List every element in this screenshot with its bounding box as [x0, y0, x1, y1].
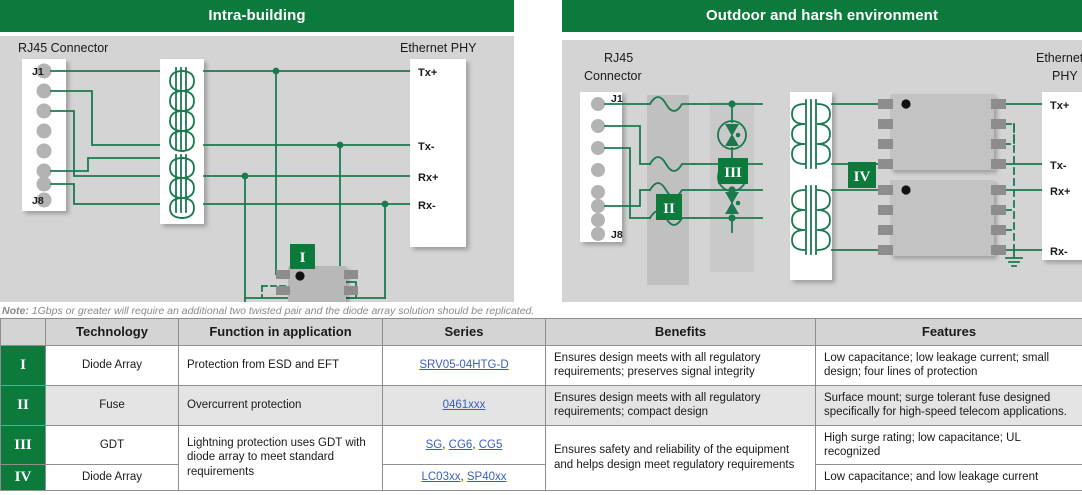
diode-array-top	[878, 94, 1006, 170]
row-technology-iv: Diode Array	[46, 465, 179, 490]
series-link-cg6[interactable]: CG6	[449, 439, 473, 451]
row-index-iv: IV	[1, 465, 46, 490]
table-row: III GDT Lightning protection uses GDT wi…	[1, 425, 1082, 465]
col-header-benefits: Benefits	[546, 319, 816, 346]
row-index-i: I	[1, 346, 46, 386]
series-link-sg[interactable]: SG	[426, 439, 443, 451]
right-phy-pin-rx-plus: Rx+	[1050, 186, 1071, 198]
right-phy-label-line2: PHY	[1052, 69, 1078, 83]
left-phy-pin-tx-minus: Tx-	[418, 141, 435, 153]
note-prefix: Note:	[2, 305, 29, 317]
left-phy-pin-rx-minus: Rx-	[418, 200, 436, 212]
technology-table-wrapper: Technology Function in application Serie…	[0, 318, 1082, 491]
col-header-index	[1, 319, 46, 346]
schematic-outdoor-harsh: RJ45 Connector J1 J8 Ethernet PHY Tx+ Tx…	[562, 40, 1082, 302]
row-technology-i: Diode Array	[46, 346, 179, 386]
badge-ii-label: II	[663, 201, 675, 217]
row-benefits-ii: Ensures design meets with all regulatory…	[546, 385, 816, 425]
row-technology-iii: GDT	[46, 425, 179, 465]
right-pin-j1-label: J1	[611, 93, 623, 105]
series-link-sp40xx[interactable]: SP40xx	[467, 471, 507, 483]
table-row: I Diode Array Protection from ESD and EF…	[1, 346, 1082, 386]
row-function-ii: Overcurrent protection	[179, 385, 383, 425]
row-benefits-i: Ensures design meets with all regulatory…	[546, 346, 816, 386]
left-pin-j8-label: J8	[32, 195, 44, 207]
right-phy-label-line1: Ethernet	[1036, 51, 1082, 65]
note-text: Note: 1Gbps or greater will require an a…	[2, 305, 534, 317]
technology-table: Technology Function in application Serie…	[0, 318, 1082, 491]
badge-iv: IV	[848, 162, 876, 188]
left-phy-pin-rx-plus: Rx+	[418, 172, 439, 184]
row-index-iii: III	[1, 425, 46, 465]
left-phy-pin-tx-plus: Tx+	[418, 67, 437, 79]
row-technology-ii: Fuse	[46, 385, 179, 425]
right-phy-pin-tx-plus: Tx+	[1050, 100, 1069, 112]
col-header-technology: Technology	[46, 319, 179, 346]
row-series-iv: LC03xx, SP40xx	[383, 465, 546, 490]
left-connector-label: RJ45 Connector	[18, 41, 108, 55]
left-phy-label: Ethernet PHY	[400, 41, 477, 55]
row-features-iii: High surge rating; low capacitance; UL r…	[816, 425, 1082, 465]
series-link-0461xxx[interactable]: 0461xxx	[443, 399, 486, 411]
badge-i-label: I	[300, 250, 306, 266]
left-pin-j1-label: J1	[32, 66, 44, 78]
row-benefits-iii: Ensures safety and reliability of the eq…	[546, 425, 816, 490]
row-series-iii: SG, CG6, CG5	[383, 425, 546, 465]
row-features-ii: Surface mount; surge tolerant fuse desig…	[816, 385, 1082, 425]
table-row: IV Diode Array LC03xx, SP40xx Low capaci…	[1, 465, 1082, 490]
panel-right-title: Outdoor and harsh environment	[562, 0, 1082, 32]
series-link-srv05[interactable]: SRV05-04HTG-D	[419, 359, 508, 371]
panel-intra-building: Intra-building	[0, 0, 514, 302]
row-function-i: Protection from ESD and EFT	[179, 346, 383, 386]
badge-i: I	[290, 244, 315, 269]
col-header-series: Series	[383, 319, 546, 346]
row-index-ii: II	[1, 385, 46, 425]
row-features-i: Low capacitance; low leakage current; sm…	[816, 346, 1082, 386]
table-row: II Fuse Overcurrent protection 0461xxx E…	[1, 385, 1082, 425]
col-header-function: Function in application	[179, 319, 383, 346]
diagram-page: Intra-building	[0, 0, 1082, 495]
badge-iii: III	[718, 158, 748, 184]
note-body: 1Gbps or greater will require an additio…	[29, 305, 534, 317]
row-function-iii: Lightning protection uses GDT with diode…	[179, 425, 383, 490]
col-header-features: Features	[816, 319, 1082, 346]
table-header-row: Technology Function in application Serie…	[1, 319, 1082, 346]
badge-ii: II	[656, 194, 682, 220]
right-phy-pin-tx-minus: Tx-	[1050, 160, 1067, 172]
diode-array-bottom	[878, 180, 1006, 256]
panel-outdoor-harsh: Outdoor and harsh environment	[562, 0, 1082, 302]
row-features-iv: Low capacitance; and low leakage current	[816, 465, 1082, 490]
badge-iii-label: III	[724, 165, 742, 181]
right-connector-label-line2: Connector	[584, 69, 642, 83]
schematic-intra-building: RJ45 Connector J1 J8 Ethernet PHY Tx+ Tx…	[0, 36, 514, 302]
right-connector-label-line1: RJ45	[604, 51, 633, 65]
panel-left-title: Intra-building	[0, 0, 514, 32]
series-link-cg5[interactable]: CG5	[479, 439, 503, 451]
badge-iv-label: IV	[854, 169, 871, 185]
right-phy-pin-rx-minus: Rx-	[1050, 246, 1068, 258]
right-pin-j8-label: J8	[611, 229, 623, 241]
row-series-i: SRV05-04HTG-D	[383, 346, 546, 386]
series-link-lc03xx[interactable]: LC03xx	[421, 471, 460, 483]
row-series-ii: 0461xxx	[383, 385, 546, 425]
